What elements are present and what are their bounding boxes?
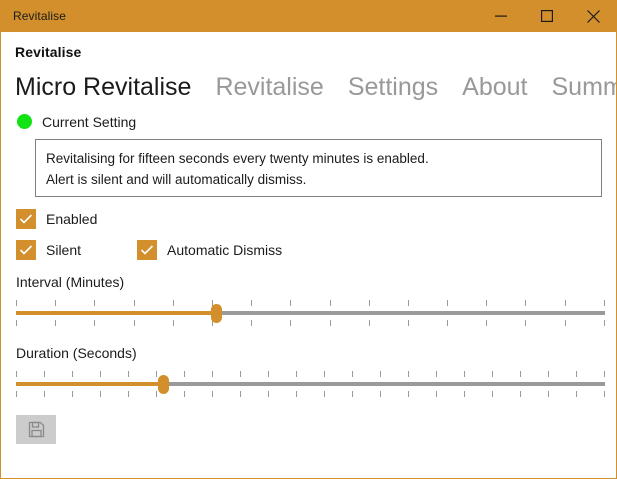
check-icon <box>18 242 34 258</box>
slider-tick <box>604 371 605 377</box>
slider-tick <box>240 371 241 377</box>
slider-tick <box>576 371 577 377</box>
slider-tick <box>268 371 269 377</box>
app-header: Revitalise <box>1 32 616 60</box>
interval-ticks-top <box>16 300 605 306</box>
app-window: Revitalise Revitalise <box>0 0 617 479</box>
maximize-icon <box>541 10 553 22</box>
interval-slider-fill <box>16 311 216 315</box>
slider-tick <box>44 391 45 397</box>
slider-tick <box>548 371 549 377</box>
close-icon <box>587 10 600 23</box>
check-icon <box>139 242 155 258</box>
alert-options-row: Silent Automatic Dismiss <box>1 240 616 260</box>
slider-tick <box>212 371 213 377</box>
slider-tick <box>492 371 493 377</box>
slider-tick <box>408 320 409 326</box>
duration-slider-label: Duration (Seconds) <box>16 345 616 361</box>
slider-tick <box>268 391 269 397</box>
slider-tick <box>369 320 370 326</box>
slider-tick <box>436 391 437 397</box>
check-icon <box>18 211 34 227</box>
slider-tick <box>173 300 174 306</box>
maximize-button[interactable] <box>524 0 570 32</box>
slider-tick <box>16 320 17 326</box>
tab-revitalise[interactable]: Revitalise <box>215 74 323 102</box>
tab-summary[interactable]: Summary <box>552 74 617 102</box>
slider-tick <box>212 391 213 397</box>
slider-tick <box>352 371 353 377</box>
slider-tick <box>324 391 325 397</box>
slider-tick <box>408 371 409 377</box>
minimize-button[interactable] <box>478 0 524 32</box>
status-indicator-icon <box>17 114 32 129</box>
slider-tick <box>16 300 17 306</box>
close-button[interactable] <box>570 0 616 32</box>
slider-tick <box>134 320 135 326</box>
duration-slider-block: Duration (Seconds) <box>1 345 616 399</box>
slider-tick <box>604 391 605 397</box>
silent-checkbox-label[interactable]: Silent <box>46 242 81 258</box>
slider-tick <box>604 300 605 306</box>
slider-tick <box>94 320 95 326</box>
window-controls <box>478 0 616 32</box>
slider-tick <box>128 371 129 377</box>
slider-tick <box>565 300 566 306</box>
automatic-dismiss-checkbox[interactable] <box>137 240 157 260</box>
status-label: Current Setting <box>42 114 136 130</box>
current-setting-description: Revitalising for fifteen seconds every t… <box>35 139 602 197</box>
slider-tick <box>156 371 157 377</box>
interval-slider[interactable] <box>16 298 605 328</box>
slider-tick <box>436 371 437 377</box>
slider-tick <box>184 391 185 397</box>
slider-tick <box>16 391 17 397</box>
minimize-icon <box>495 10 507 22</box>
interval-slider-thumb[interactable] <box>211 304 222 323</box>
slider-tick <box>380 391 381 397</box>
app-title: Revitalise <box>15 44 616 60</box>
slider-tick <box>380 371 381 377</box>
slider-tick <box>296 391 297 397</box>
automatic-dismiss-checkbox-label[interactable]: Automatic Dismiss <box>167 242 282 258</box>
save-button[interactable] <box>16 415 56 444</box>
slider-tick <box>464 371 465 377</box>
slider-tick <box>72 391 73 397</box>
pivot-header: Micro Revitalise Revitalise Settings Abo… <box>1 60 616 102</box>
enabled-checkbox[interactable] <box>16 209 36 229</box>
duration-ticks-bottom <box>16 391 605 397</box>
slider-tick <box>330 300 331 306</box>
slider-tick <box>576 391 577 397</box>
slider-tick <box>548 391 549 397</box>
slider-tick <box>16 371 17 377</box>
slider-tick <box>100 391 101 397</box>
enabled-checkbox-row[interactable]: Enabled <box>1 209 616 229</box>
slider-tick <box>184 371 185 377</box>
tab-settings[interactable]: Settings <box>348 74 438 102</box>
slider-tick <box>251 320 252 326</box>
duration-slider[interactable] <box>16 369 605 399</box>
slider-tick <box>251 300 252 306</box>
interval-ticks-bottom <box>16 320 605 326</box>
slider-tick <box>290 300 291 306</box>
tab-about[interactable]: About <box>462 74 527 102</box>
slider-tick <box>492 391 493 397</box>
enabled-checkbox-label[interactable]: Enabled <box>46 211 97 227</box>
title-bar: Revitalise <box>1 0 616 32</box>
silent-checkbox[interactable] <box>16 240 36 260</box>
save-icon <box>28 421 45 438</box>
duration-slider-thumb[interactable] <box>158 375 169 394</box>
slider-tick <box>604 320 605 326</box>
slider-tick <box>525 320 526 326</box>
slider-tick <box>408 300 409 306</box>
slider-tick <box>408 391 409 397</box>
slider-tick <box>447 300 448 306</box>
slider-tick <box>156 391 157 397</box>
window-title: Revitalise <box>1 0 66 32</box>
slider-tick <box>44 371 45 377</box>
duration-slider-fill <box>16 382 163 386</box>
tab-micro-revitalise[interactable]: Micro Revitalise <box>15 74 191 102</box>
slider-tick <box>240 391 241 397</box>
slider-tick <box>330 320 331 326</box>
footer <box>1 399 616 444</box>
slider-tick <box>55 320 56 326</box>
slider-tick <box>464 391 465 397</box>
slider-tick <box>447 320 448 326</box>
slider-tick <box>290 320 291 326</box>
current-setting-row: Current Setting <box>1 102 616 130</box>
slider-tick <box>296 371 297 377</box>
slider-tick <box>55 300 56 306</box>
description-line-2: Alert is silent and will automatically d… <box>46 169 591 190</box>
slider-tick <box>128 391 129 397</box>
interval-slider-label: Interval (Minutes) <box>16 274 616 290</box>
slider-tick <box>520 391 521 397</box>
slider-tick <box>565 320 566 326</box>
slider-tick <box>486 320 487 326</box>
slider-tick <box>94 300 95 306</box>
slider-tick <box>525 300 526 306</box>
slider-tick <box>72 371 73 377</box>
slider-tick <box>352 391 353 397</box>
slider-tick <box>100 371 101 377</box>
slider-tick <box>369 300 370 306</box>
slider-tick <box>486 300 487 306</box>
interval-slider-block: Interval (Minutes) <box>1 274 616 328</box>
description-line-1: Revitalising for fifteen seconds every t… <box>46 148 591 169</box>
slider-tick <box>173 320 174 326</box>
duration-ticks-top <box>16 371 605 377</box>
slider-tick <box>324 371 325 377</box>
slider-tick <box>520 371 521 377</box>
slider-tick <box>134 300 135 306</box>
